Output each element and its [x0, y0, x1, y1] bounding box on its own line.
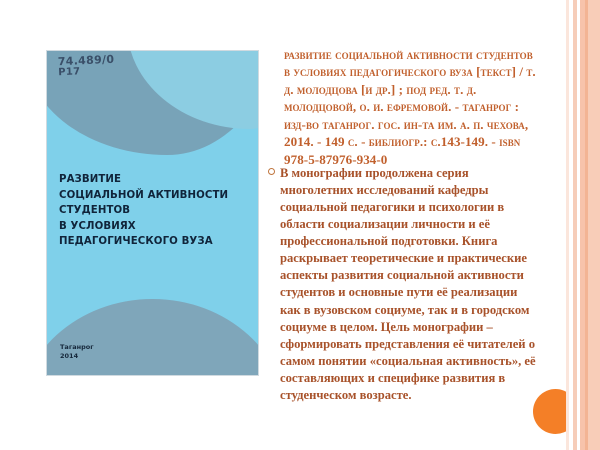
cover-title-line-4: В УСЛОВИЯХ ПЕДАГОГИЧЕСКОГО ВУЗА: [59, 219, 251, 250]
cover-title-line-3: СТУДЕНТОВ: [59, 203, 251, 219]
cover-imprint: Таганрог 2014: [60, 343, 94, 361]
text-column: Развитие социальной активности студентов…: [284, 46, 540, 168]
annotation-bullet-item: В монографии продолжена серия многолетни…: [262, 165, 540, 404]
cover-imprint-city: Таганрог: [60, 343, 94, 352]
right-stripe-band: [566, 0, 600, 450]
cover-wave-bottom-shape: [47, 299, 258, 375]
book-cover-image: 74.489/0 Р17 РАЗВИТИЕ СОЦИАЛЬНОЙ АКТИВНО…: [47, 51, 258, 375]
annotation-text: В монографии продолжена серия многолетни…: [280, 165, 540, 404]
presentation-slide: 74.489/0 Р17 РАЗВИТИЕ СОЦИАЛЬНОЙ АКТИВНО…: [0, 0, 600, 450]
stripe-7: [588, 0, 600, 450]
cover-title-line-2: СОЦИАЛЬНОЙ АКТИВНОСТИ: [59, 188, 251, 204]
cover-imprint-year: 2014: [60, 352, 94, 361]
cover-title-line-1: РАЗВИТИЕ: [59, 172, 251, 188]
cover-call-number-line1: 74.489/0: [58, 54, 115, 68]
bibliographic-record: Развитие социальной активности студентов…: [284, 46, 540, 168]
cover-title: РАЗВИТИЕ СОЦИАЛЬНОЙ АКТИВНОСТИ СТУДЕНТОВ…: [59, 172, 251, 250]
ring-bullet-icon: [262, 165, 280, 177]
cover-call-number: 74.489/0 Р17: [58, 54, 115, 78]
